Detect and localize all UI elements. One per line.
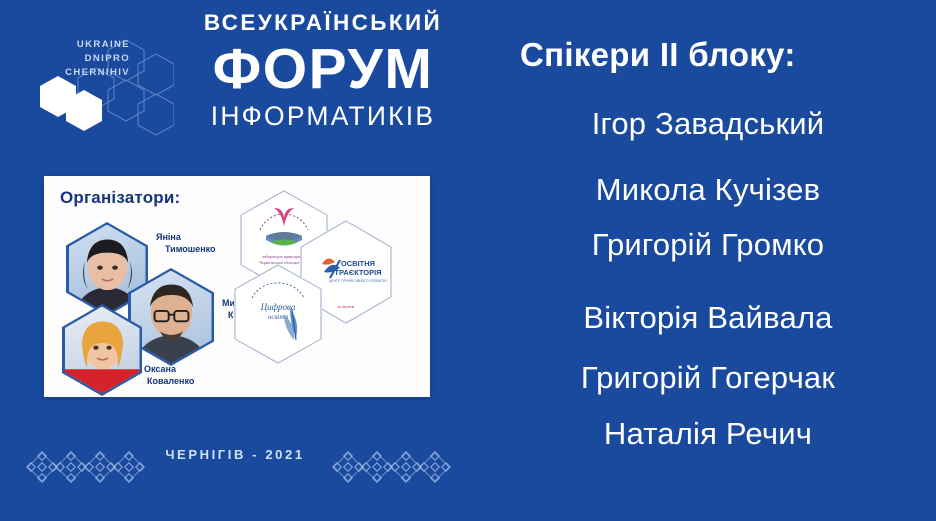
ukrainian-ornament-right-icon: [330, 442, 452, 492]
svg-text:ТРАЄКТОРІЯ: ТРАЄКТОРІЯ: [334, 268, 381, 277]
speaker-name-5: Григорій Гогерчак: [480, 360, 936, 396]
organizer-name-3: Оксана Коваленко: [144, 364, 194, 387]
speaker-name-1: Ігор Завадський: [480, 106, 936, 142]
wordmark-line-vseukrainskyi: ВСЕУКРАЇНСЬКИЙ: [180, 8, 466, 38]
organizer-name-1: Яніна Тимошенко: [156, 232, 216, 255]
forum-wordmark: ВСЕУКРАЇНСЬКИЙ ФОРУМ ІНФОРМАТИКІВ: [180, 8, 466, 132]
speakers-panel: Спікери ІІ блоку: Ігор Завадський Микола…: [480, 0, 936, 521]
svg-text:ЦЕНТР ПРОФЕСІЙНОГО РОЗВИТКУ: ЦЕНТР ПРОФЕСІЙНОГО РОЗВИТКУ: [329, 279, 388, 283]
udc-line-dnipro: DNIPRO: [30, 52, 130, 66]
wordmark-line-informatykiv: ІНФОРМАТИКІВ: [180, 100, 466, 132]
svg-text:ОСВІТНЯ: ОСВІТНЯ: [341, 259, 375, 268]
header-band: UKRAINE DNIPRO CHERNIHIV ВСЕУКРАЇНСЬКИЙ …: [0, 0, 470, 152]
wordmark-line-forum: ФОРУМ: [180, 38, 466, 100]
presentation-slide: UKRAINE DNIPRO CHERNIHIV ВСЕУКРАЇНСЬКИЙ …: [0, 0, 936, 521]
footer-band: ЧЕРНІГІВ - 2021: [0, 420, 470, 521]
udc-line-ukraine: UKRAINE: [30, 38, 130, 52]
organizers-title: Організатори:: [60, 188, 180, 208]
ukraine-dnipro-chernihiv-logo: UKRAINE DNIPRO CHERNIHIV: [22, 28, 174, 136]
svg-text:м.Чернігів: м.Чернігів: [338, 305, 355, 309]
speaker-name-2: Микола Кучізев: [480, 172, 936, 208]
portrait-illustration: [131, 271, 212, 364]
portrait-illustration: [65, 307, 140, 394]
udc-line-chernihiv: CHERNIHIV: [30, 66, 130, 80]
organizers-card: Організатори: Яніна Тимошенко: [44, 176, 430, 397]
udc-logo-text: UKRAINE DNIPRO CHERNIHIV: [30, 38, 130, 80]
speakers-heading: Спікери ІІ блоку:: [520, 36, 796, 74]
speaker-name-3: Григорій Громко: [480, 227, 936, 263]
speaker-name-4: Вікторія Вайвала: [480, 300, 936, 336]
speaker-name-6: Наталія Речич: [480, 416, 936, 452]
